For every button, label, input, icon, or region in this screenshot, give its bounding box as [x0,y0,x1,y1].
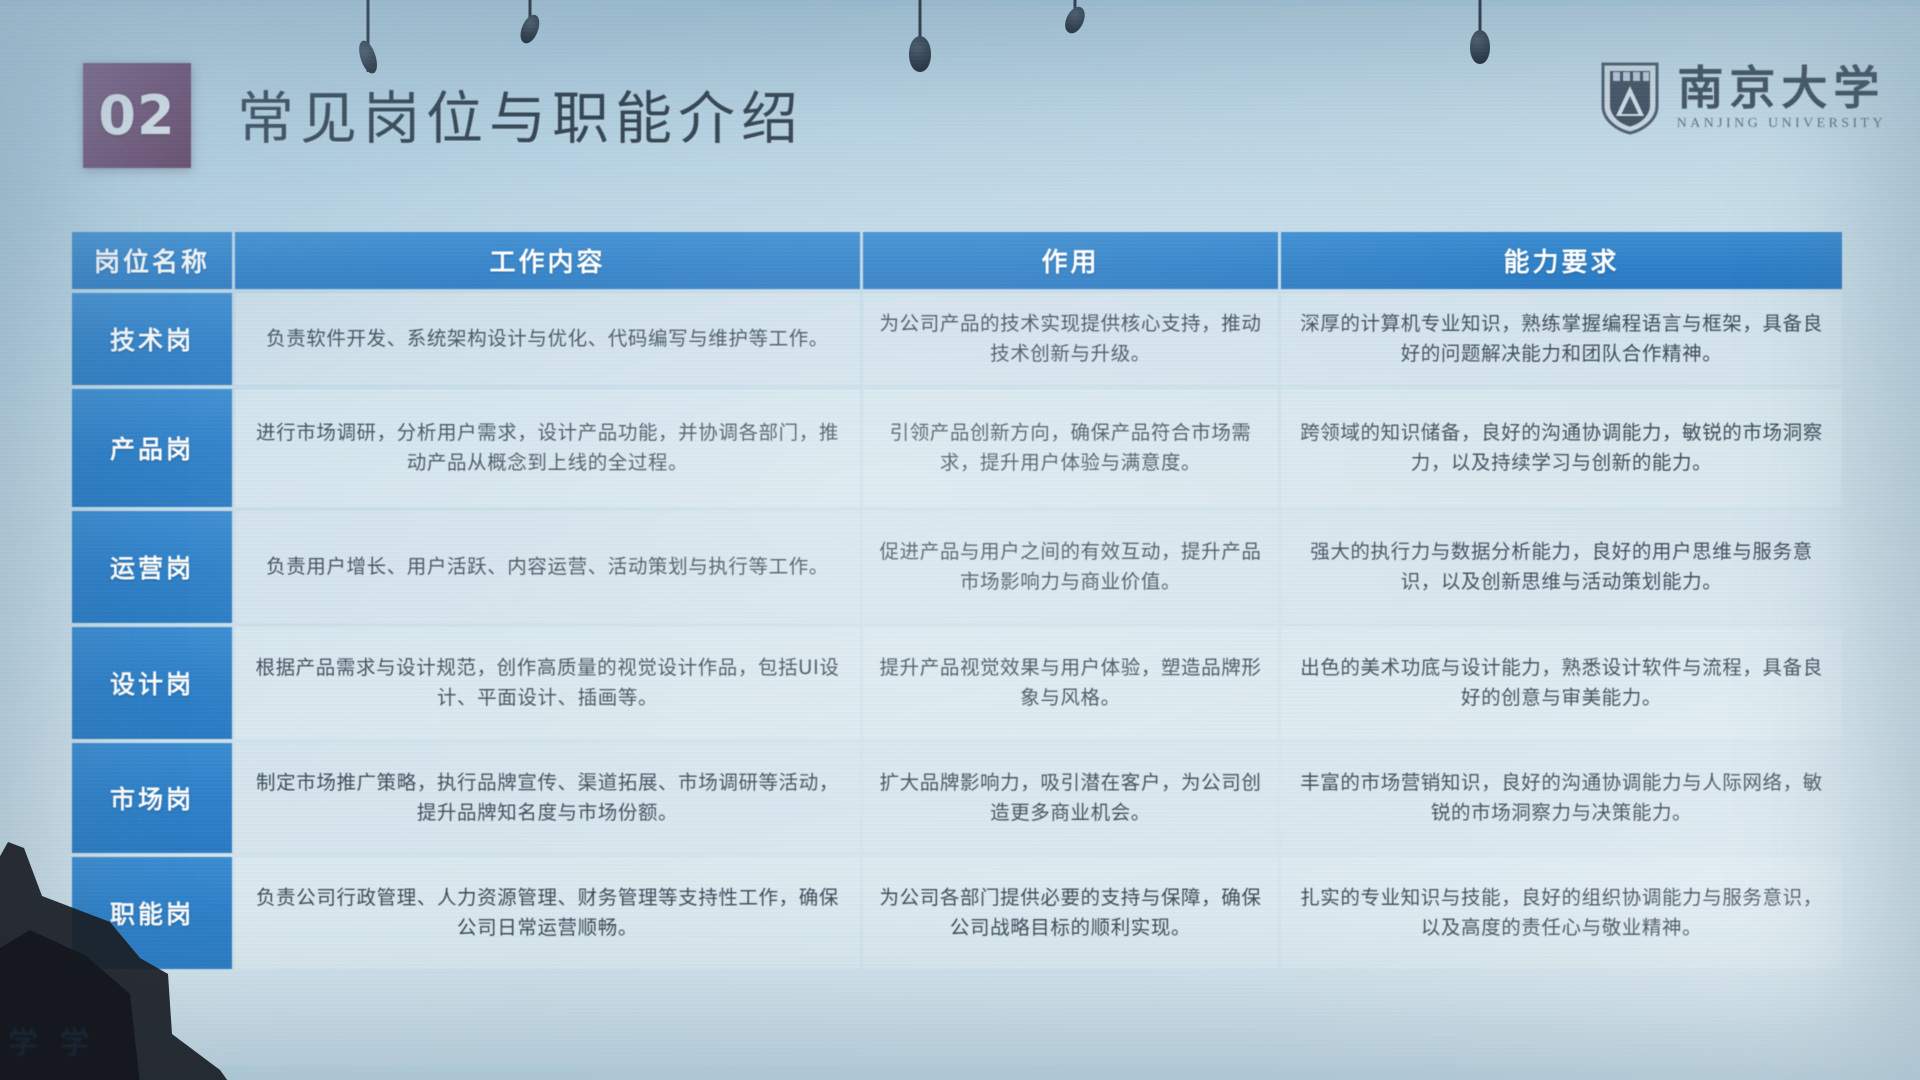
jobs-table: 岗位名称 工作内容 作用 能力要求 技术岗 负责软件开发、系统架构设计与优化、代… [72,232,1842,973]
cell-role: 扩大品牌影响力，吸引潜在客户，为公司创造更多商业机会。 [863,743,1278,853]
ceiling-lamps-group [0,0,1920,110]
column-header-duties: 工作内容 [235,232,860,289]
table-header-row: 岗位名称 工作内容 作用 能力要求 [72,232,1842,289]
table-row: 设计岗 根据产品需求与设计规范，创作高质量的视觉设计作品，包括UI设计、平面设计… [72,627,1842,739]
projected-slide-photo: 02 常见岗位与职能介绍 南京大学 NANJING UNIVERSITY 岗位名… [0,0,1920,1080]
cell-skills: 强大的执行力与数据分析能力，良好的用户思维与服务意识，以及创新思维与活动策划能力… [1281,511,1842,623]
cell-skills: 跨领域的知识储备，良好的沟通协调能力，敏锐的市场洞察力，以及持续学习与创新的能力… [1281,389,1842,507]
cell-job-name: 技术岗 [72,293,232,385]
cell-role: 引领产品创新方向，确保产品符合市场需求，提升用户体验与满意度。 [863,389,1278,507]
column-header-role: 作用 [863,232,1278,289]
cell-duties: 负责软件开发、系统架构设计与优化、代码编写与维护等工作。 [235,293,860,385]
cell-job-name: 产品岗 [72,389,232,507]
table-row: 技术岗 负责软件开发、系统架构设计与优化、代码编写与维护等工作。 为公司产品的技… [72,293,1842,385]
cell-role: 为公司产品的技术实现提供核心支持，推动技术创新与升级。 [863,293,1278,385]
cell-skills: 扎实的专业知识与技能，良好的组织协调能力与服务意识，以及高度的责任心与敬业精神。 [1281,857,1842,969]
cell-duties: 进行市场调研，分析用户需求，设计产品功能，并协调各部门，推动产品从概念到上线的全… [235,389,860,507]
cell-duties: 制定市场推广策略，执行品牌宣传、渠道拓展、市场调研等活动，提升品牌知名度与市场份… [235,743,860,853]
table-row: 市场岗 制定市场推广策略，执行品牌宣传、渠道拓展、市场调研等活动，提升品牌知名度… [72,743,1842,853]
cell-job-name: 职能岗 [72,857,232,969]
cell-skills: 出色的美术功底与设计能力，熟悉设计软件与流程，具备良好的创意与审美能力。 [1281,627,1842,739]
cell-role: 促进产品与用户之间的有效互动，提升产品市场影响力与商业价值。 [863,511,1278,623]
column-header-skills: 能力要求 [1281,232,1842,289]
cell-job-name: 运营岗 [72,511,232,623]
column-header-job-name: 岗位名称 [72,232,232,289]
cell-skills: 深厚的计算机专业知识，熟练掌握编程语言与框架，具备良好的问题解决能力和团队合作精… [1281,293,1842,385]
cell-duties: 根据产品需求与设计规范，创作高质量的视觉设计作品，包括UI设计、平面设计、插画等… [235,627,860,739]
table-row: 运营岗 负责用户增长、用户活跃、内容运营、活动策划与执行等工作。 促进产品与用户… [72,511,1842,623]
table-body: 技术岗 负责软件开发、系统架构设计与优化、代码编写与维护等工作。 为公司产品的技… [72,293,1842,969]
table-row: 职能岗 负责公司行政管理、人力资源管理、财务管理等支持性工作，确保公司日常运营顺… [72,857,1842,969]
cell-job-name: 市场岗 [72,743,232,853]
table-row: 产品岗 进行市场调研，分析用户需求，设计产品功能，并协调各部门，推动产品从概念到… [72,389,1842,507]
cell-duties: 负责用户增长、用户活跃、内容运营、活动策划与执行等工作。 [235,511,860,623]
cell-duties: 负责公司行政管理、人力资源管理、财务管理等支持性工作，确保公司日常运营顺畅。 [235,857,860,969]
cell-job-name: 设计岗 [72,627,232,739]
cell-skills: 丰富的市场营销知识，良好的沟通协调能力与人际网络，敏锐的市场洞察力与决策能力。 [1281,743,1842,853]
cell-role: 为公司各部门提供必要的支持与保障，确保公司战略目标的顺利实现。 [863,857,1278,969]
logo-name-en: NANJING UNIVERSITY [1677,116,1886,132]
cell-role: 提升产品视觉效果与用户体验，塑造品牌形象与风格。 [863,627,1278,739]
